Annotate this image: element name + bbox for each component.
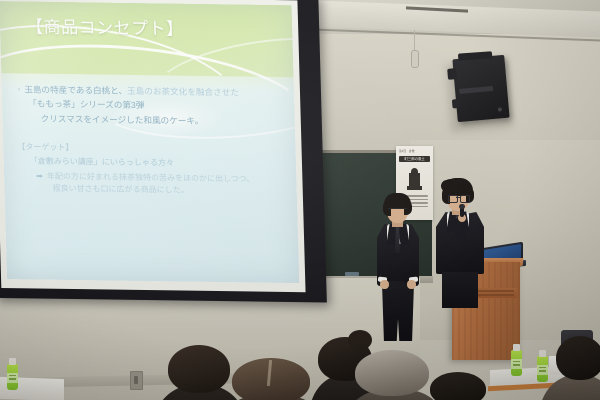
speaker-knob-lower (452, 99, 460, 109)
presenter-right-trousers (442, 272, 478, 308)
green-tea-bottle (537, 356, 548, 382)
poster-kicker-text: 第3回 倉敷 (399, 150, 430, 154)
chalk-eraser (345, 272, 359, 276)
bullet-marker-icon: ▫ (18, 83, 21, 96)
projection-screen: 【商品コンセプト】 ▫ 玉島の特産である白桃と、玉島のお茶文化を融合させた 「も… (0, 1, 299, 283)
presenter-left-hand-right (407, 280, 416, 289)
slide-body-line-1b: 玉島のお茶文化を融合させた (127, 86, 239, 98)
presenter-remote-clicker (389, 281, 405, 288)
lecture-hall-photo: 第3回 倉敷 町三郎の風土 【商品コンセプト】 (0, 0, 600, 400)
presenter-left-hand-left (380, 280, 389, 289)
wall-speaker-icon (452, 55, 509, 122)
presenter-left-brow (388, 208, 407, 213)
eyeglasses-icon (448, 195, 469, 202)
presenter-right (432, 178, 488, 308)
arrow-right-icon: ➡ (36, 170, 43, 182)
speaker-knob (447, 68, 457, 80)
slide-target-heading: 【ターゲット】 (17, 141, 286, 157)
monument-icon (409, 168, 420, 190)
ceiling-cord (414, 30, 415, 52)
ceiling-cord-weight (411, 50, 419, 68)
green-tea-bottle (511, 350, 522, 376)
presenter-left-trousers (382, 283, 414, 341)
poster-title-bar: 町三郎の風土 (399, 156, 430, 162)
slide-target-block: 【ターゲット】 「倉敷みらい講座」にいらっしゃる方々 ➡ 年配の方に好まれる抹茶… (17, 141, 287, 198)
poster-title-text: 町三郎の風土 (399, 156, 430, 162)
projection-screen-assembly: 【商品コンセプト】 ▫ 玉島の特産である白桃と、玉島のお茶文化を融合させた 「も… (0, 0, 327, 303)
speaker-grill (459, 86, 493, 94)
slide-body: ▫ 玉島の特産である白桃と、玉島のお茶文化を融合させた 「ももっ茶」シリーズの第… (18, 83, 285, 129)
green-tea-bottle (7, 364, 18, 390)
presenter-left (374, 193, 422, 341)
slide-body-line-1a: 玉島の特産である白桃と、 (24, 84, 127, 95)
speaker-led (498, 107, 502, 111)
slide-target-line-1: 「倉敷みらい講座」にいらっしゃる方々 (30, 156, 287, 172)
wall-outlet-icon (130, 371, 143, 390)
slide-title: 【商品コンセプト】 (26, 13, 184, 40)
presentation-slide: 【商品コンセプト】 ▫ 玉島の特産である白桃と、玉島のお茶文化を融合させた 「も… (0, 1, 299, 283)
speaker-bracket (458, 51, 492, 60)
microphone-head (459, 204, 465, 209)
poster-kicker: 第3回 倉敷 (399, 150, 430, 154)
